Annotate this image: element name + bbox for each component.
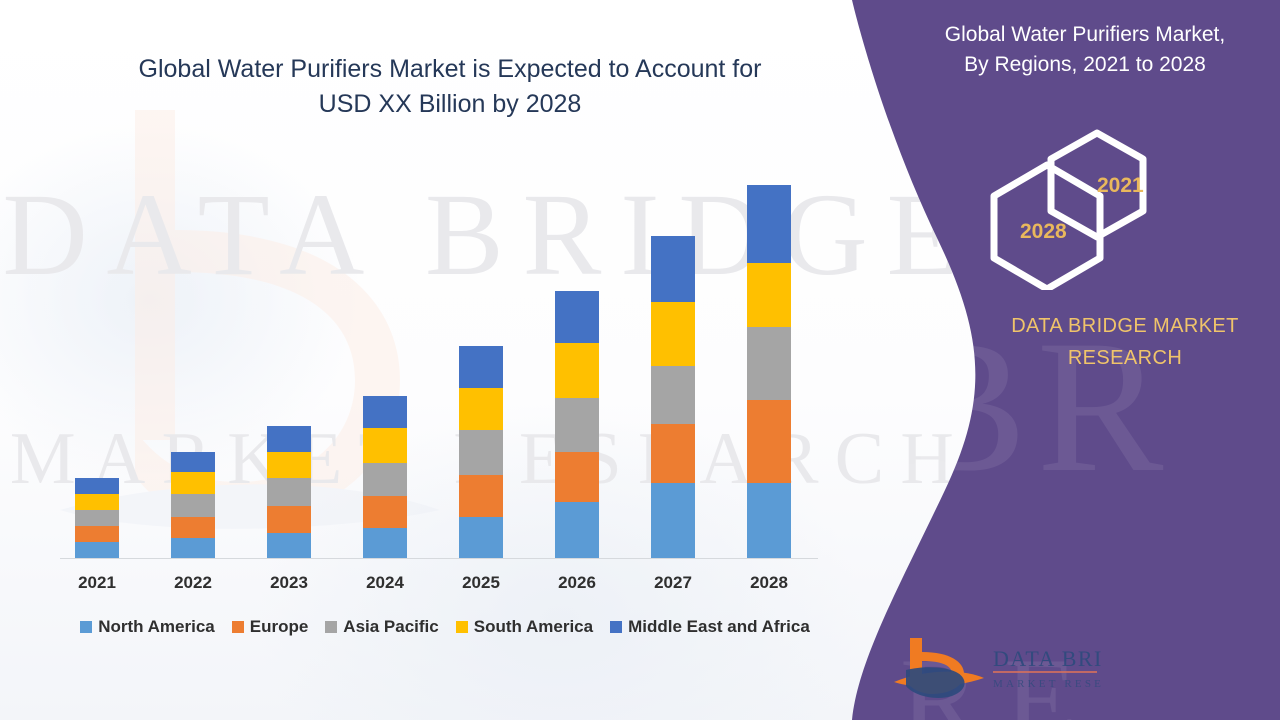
infographic-canvas: DATA BRIDGE MARKET RESEARCH Global Water… <box>0 0 1280 720</box>
side-panel-title-line1: Global Water Purifiers Market, <box>905 20 1265 50</box>
svg-text:DATA BRIDGE: DATA BRIDGE <box>993 646 1103 671</box>
brand-name-line2: RESEARCH <box>965 342 1280 374</box>
hexagon-badges <box>975 125 1195 290</box>
brand-name-line1: DATA BRIDGE MARKET <box>965 310 1280 342</box>
data-bridge-logo: DATA BRIDGE MARKET RESEARCH <box>888 630 1103 700</box>
svg-text:MARKET RESEARCH: MARKET RESEARCH <box>993 678 1103 690</box>
hexagon-badge-2028-label: 2028 <box>1020 220 1067 244</box>
brand-name: DATA BRIDGE MARKET RESEARCH <box>965 310 1280 374</box>
side-panel-title: Global Water Purifiers Market, By Region… <box>905 20 1265 80</box>
side-panel-title-line2: By Regions, 2021 to 2028 <box>905 50 1265 80</box>
hexagon-badge-2021-label: 2021 <box>1097 174 1144 198</box>
